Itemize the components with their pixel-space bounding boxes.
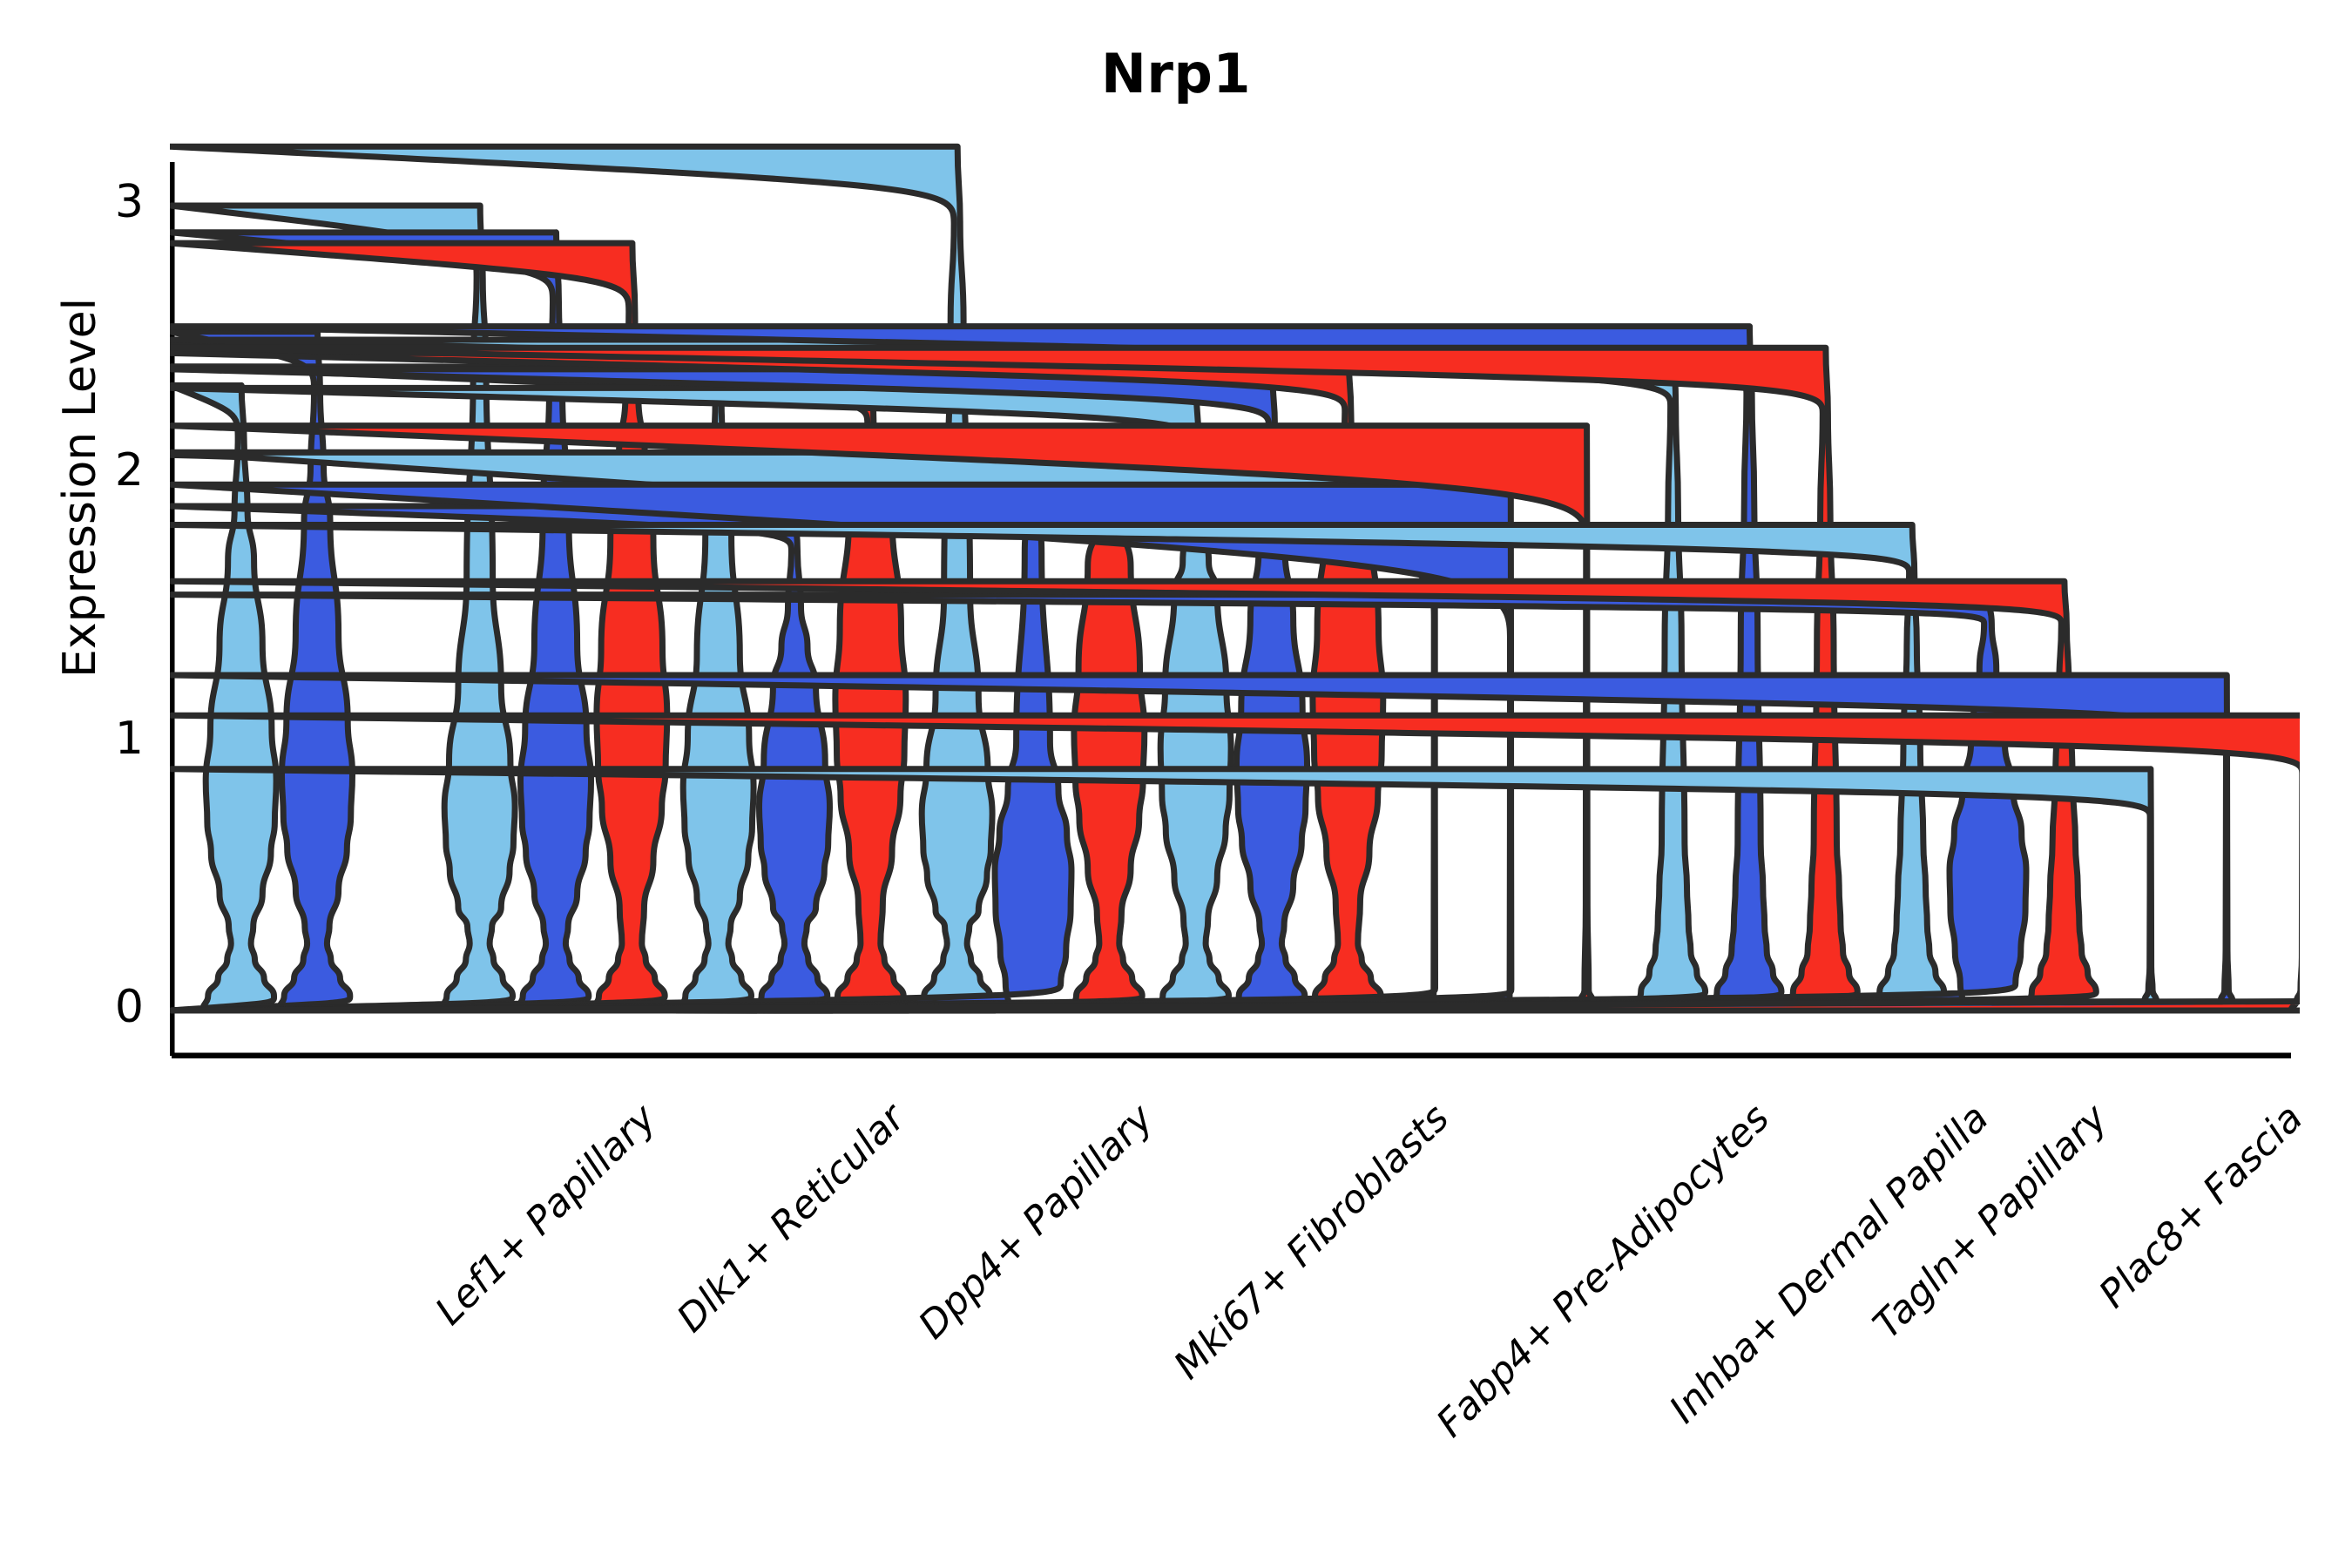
x-tick-label-1: Dlk1+ Reticular — [669, 1096, 914, 1341]
violin-plot-figure: Nrp1 Expression Level 0123 Lef1+ Papilla… — [0, 0, 2352, 1568]
plot-area — [170, 122, 2300, 1058]
y-tick-label-2: 2 — [39, 444, 144, 497]
x-tick-label-0: Lef1+ Papillary — [427, 1096, 665, 1334]
x-tick-label-7: Plac8+ Fascia — [2091, 1096, 2311, 1316]
y-tick-label-0: 0 — [39, 981, 144, 1033]
violin-0-0[interactable] — [170, 385, 280, 1010]
y-tick-label-1: 1 — [39, 713, 144, 765]
violin-svg — [170, 122, 2300, 1058]
x-tick-label-3: Mki67+ Fibroblasts — [1166, 1096, 1457, 1388]
y-tick-label-3: 3 — [39, 176, 144, 228]
x-tick-label-2: Dpp4+ Papillary — [910, 1096, 1162, 1348]
chart-title: Nrp1 — [0, 42, 2352, 105]
